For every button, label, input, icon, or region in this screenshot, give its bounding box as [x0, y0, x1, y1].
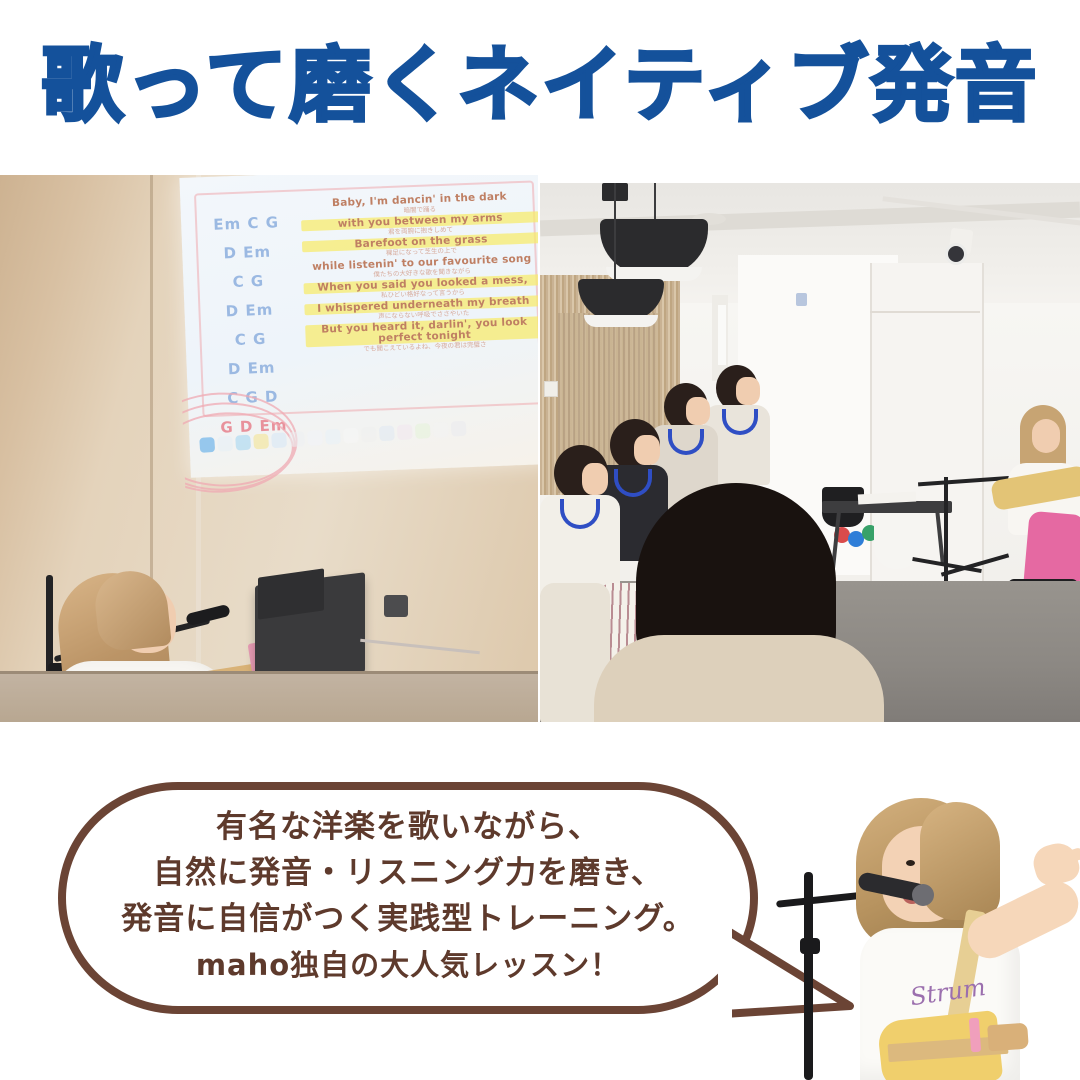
- dock-icon: [271, 432, 287, 448]
- light-switch-icon: [796, 293, 807, 306]
- chord-line: C G: [189, 265, 308, 299]
- photo-band: Em C G D Em C G D Em C G D Em C G D G D …: [0, 175, 1080, 722]
- student-face: [686, 397, 710, 425]
- bubble-line-4: maho独自の大人気レッスン！: [58, 942, 758, 988]
- chord-line: Em C G: [187, 207, 306, 241]
- floor-baseboard: [0, 671, 538, 674]
- dock-icon: [361, 426, 377, 442]
- bubble-line-3: 発音に自信がつく実践型トレーニング。: [58, 896, 758, 942]
- student-face: [736, 377, 760, 405]
- poster-canvas: 歌って磨くネイティブ発音 Em C G D Em C G D Em C G D …: [0, 0, 1080, 1080]
- power-outlet-icon: [544, 381, 558, 397]
- speech-bubble-text: 有名な洋楽を歌いながら、 自然に発音・リスニング力を磨き、 発音に自信がつく実践…: [58, 804, 758, 988]
- floor: [0, 671, 538, 722]
- dock-icon: [433, 421, 449, 437]
- spotlight-lens-icon: [945, 243, 967, 265]
- dock-icon: [379, 425, 395, 441]
- dock-icon: [451, 420, 467, 436]
- dock-icon: [235, 434, 251, 450]
- dock-icon: [253, 433, 269, 449]
- dock-icon: [217, 435, 233, 451]
- chord-line: C G: [191, 323, 310, 357]
- microphone-grille: [912, 884, 934, 906]
- dock-icon: [343, 427, 359, 443]
- teacher-face: [1032, 419, 1060, 453]
- wall-pillar-highlight: [718, 305, 726, 365]
- dock-icon: [397, 424, 413, 440]
- lesson-room-students-photo: [540, 183, 1080, 722]
- bubble-line-2: 自然に発音・リスニング力を磨き、: [58, 850, 758, 896]
- instructor-eye: [906, 860, 915, 866]
- instructor-pointing-cutout: Strum Sing: [760, 788, 1080, 1080]
- student-face: [582, 463, 608, 495]
- projector-screen: Em C G D Em C G D Em C G D Em C G D G D …: [179, 175, 538, 478]
- student-face: [634, 435, 660, 465]
- dock-icon: [289, 431, 305, 447]
- dock-icon: [325, 428, 341, 444]
- chord-line: D Em: [190, 294, 309, 328]
- door-transom-line: [870, 311, 980, 313]
- dock-icon: [199, 436, 215, 452]
- page-title: 歌って磨くネイティブ発音: [0, 38, 1080, 134]
- chord-line: D Em: [188, 236, 307, 270]
- instructor-hair-front: [920, 802, 1000, 920]
- instructor-singing-with-guitar-photo: Em C G D Em C G D Em C G D Em C G D G D …: [0, 175, 538, 722]
- chord-line: D Em: [192, 352, 311, 386]
- speech-bubble: 有名な洋楽を歌いながら、 自然に発音・リスニング力を磨き、 発音に自信がつく実践…: [58, 782, 758, 1014]
- guitar-headstock: [987, 1023, 1029, 1052]
- instructor-hand: [1029, 839, 1080, 890]
- wall-plug: [384, 595, 408, 617]
- bubble-line-1: 有名な洋楽を歌いながら、: [58, 804, 758, 850]
- foreground-student-shoulders: [594, 635, 884, 722]
- lyrics-column: Baby, I'm dancin' in the dark 暗闇で踊る with…: [300, 190, 538, 357]
- dock-icon: [307, 429, 323, 445]
- mic-stand-pole: [804, 872, 813, 1080]
- mic-stand-clamp: [800, 938, 820, 954]
- dock-icon: [415, 423, 431, 439]
